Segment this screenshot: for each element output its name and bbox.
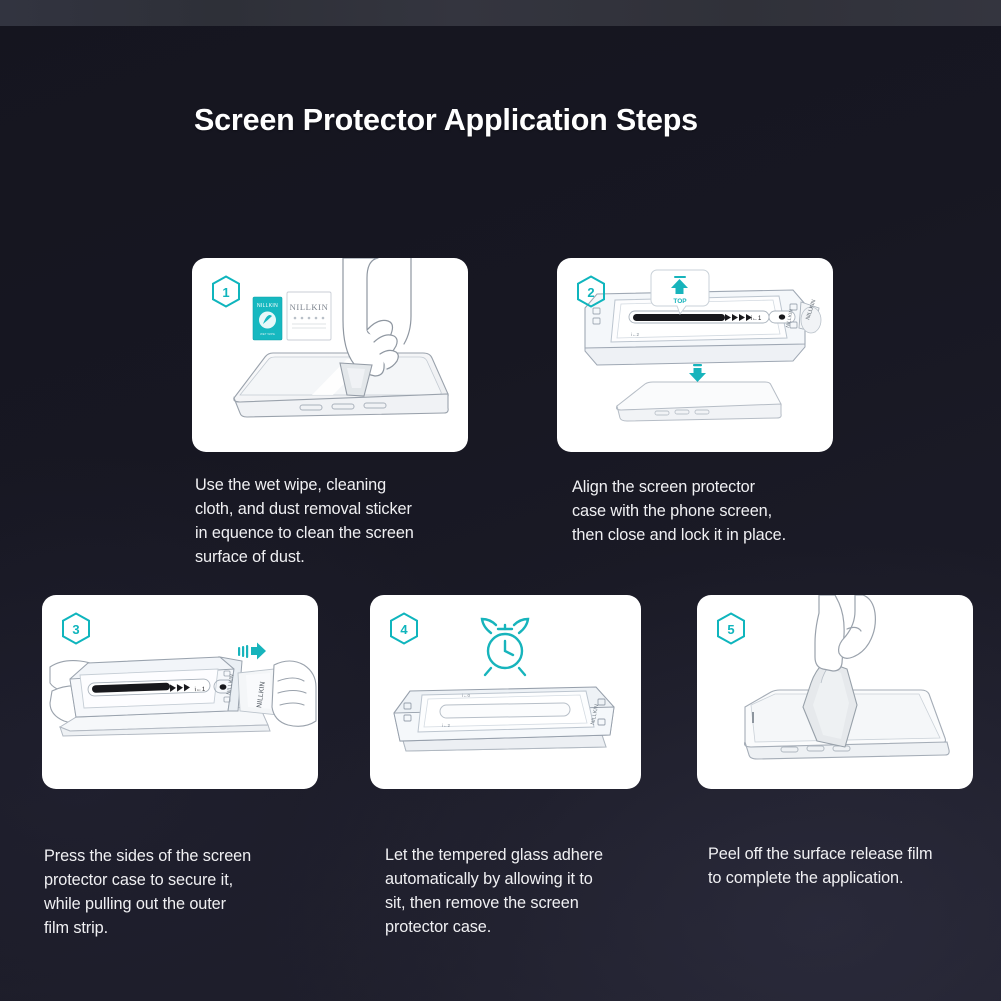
step-3-number: 3 [61,612,91,645]
svg-text:i←0: i←0 [462,693,470,698]
step-1-badge: 1 [211,275,241,308]
step-5-image: 5 [697,595,973,789]
step-card-3: i←1 NILLKIN [42,595,318,940]
svg-text:i←1: i←1 [195,687,207,693]
step-3-caption: Press the sides of the screen protector … [44,844,318,940]
step-4-number: 4 [389,612,419,645]
svg-text:i←2: i←2 [442,723,450,728]
step-1-number: 1 [211,275,241,308]
step-4-caption: Let the tempered glass adhere automatica… [385,843,641,939]
page-title: Screen Protector Application Steps [194,103,698,138]
svg-text:WET WIPE: WET WIPE [260,332,275,336]
svg-text:TOP: TOP [673,298,687,305]
svg-text:i←2: i←2 [631,332,639,337]
step-4-badge: 4 [389,612,419,645]
step-4-image: i←0 i←2 NILLKIN [370,595,641,789]
step-card-5: 5 Peel off the surface release film to c… [697,595,973,890]
svg-text:NILLKIN: NILLKIN [257,303,278,309]
step-2-image: i←0 i←2 i←1 [557,258,833,452]
step-card-1: NILLKIN WET WIPE NILLKIN [192,258,468,569]
step-5-caption: Peel off the surface release film to com… [708,842,973,890]
top-strip [0,0,1001,26]
step-1-caption: Use the wet wipe, cleaning cloth, and du… [195,473,468,569]
step-5-badge: 5 [716,612,746,645]
step-5-number: 5 [716,612,746,645]
step-2-badge: 2 [576,275,606,308]
step-3-badge: 3 [61,612,91,645]
svg-text:i←1: i←1 [751,316,762,322]
step-1-image: NILLKIN WET WIPE NILLKIN [192,258,468,452]
step-2-number: 2 [576,275,606,308]
alarm-clock-icon [482,619,528,675]
step-2-caption: Align the screen protector case with the… [572,475,833,547]
svg-text:NILLKIN: NILLKIN [290,302,329,312]
step-card-2: i←0 i←2 i←1 [557,258,833,547]
step-3-image: i←1 NILLKIN [42,595,318,789]
step-card-4: i←0 i←2 NILLKIN [370,595,641,939]
instruction-page: Screen Protector Application Steps [0,0,1001,1001]
